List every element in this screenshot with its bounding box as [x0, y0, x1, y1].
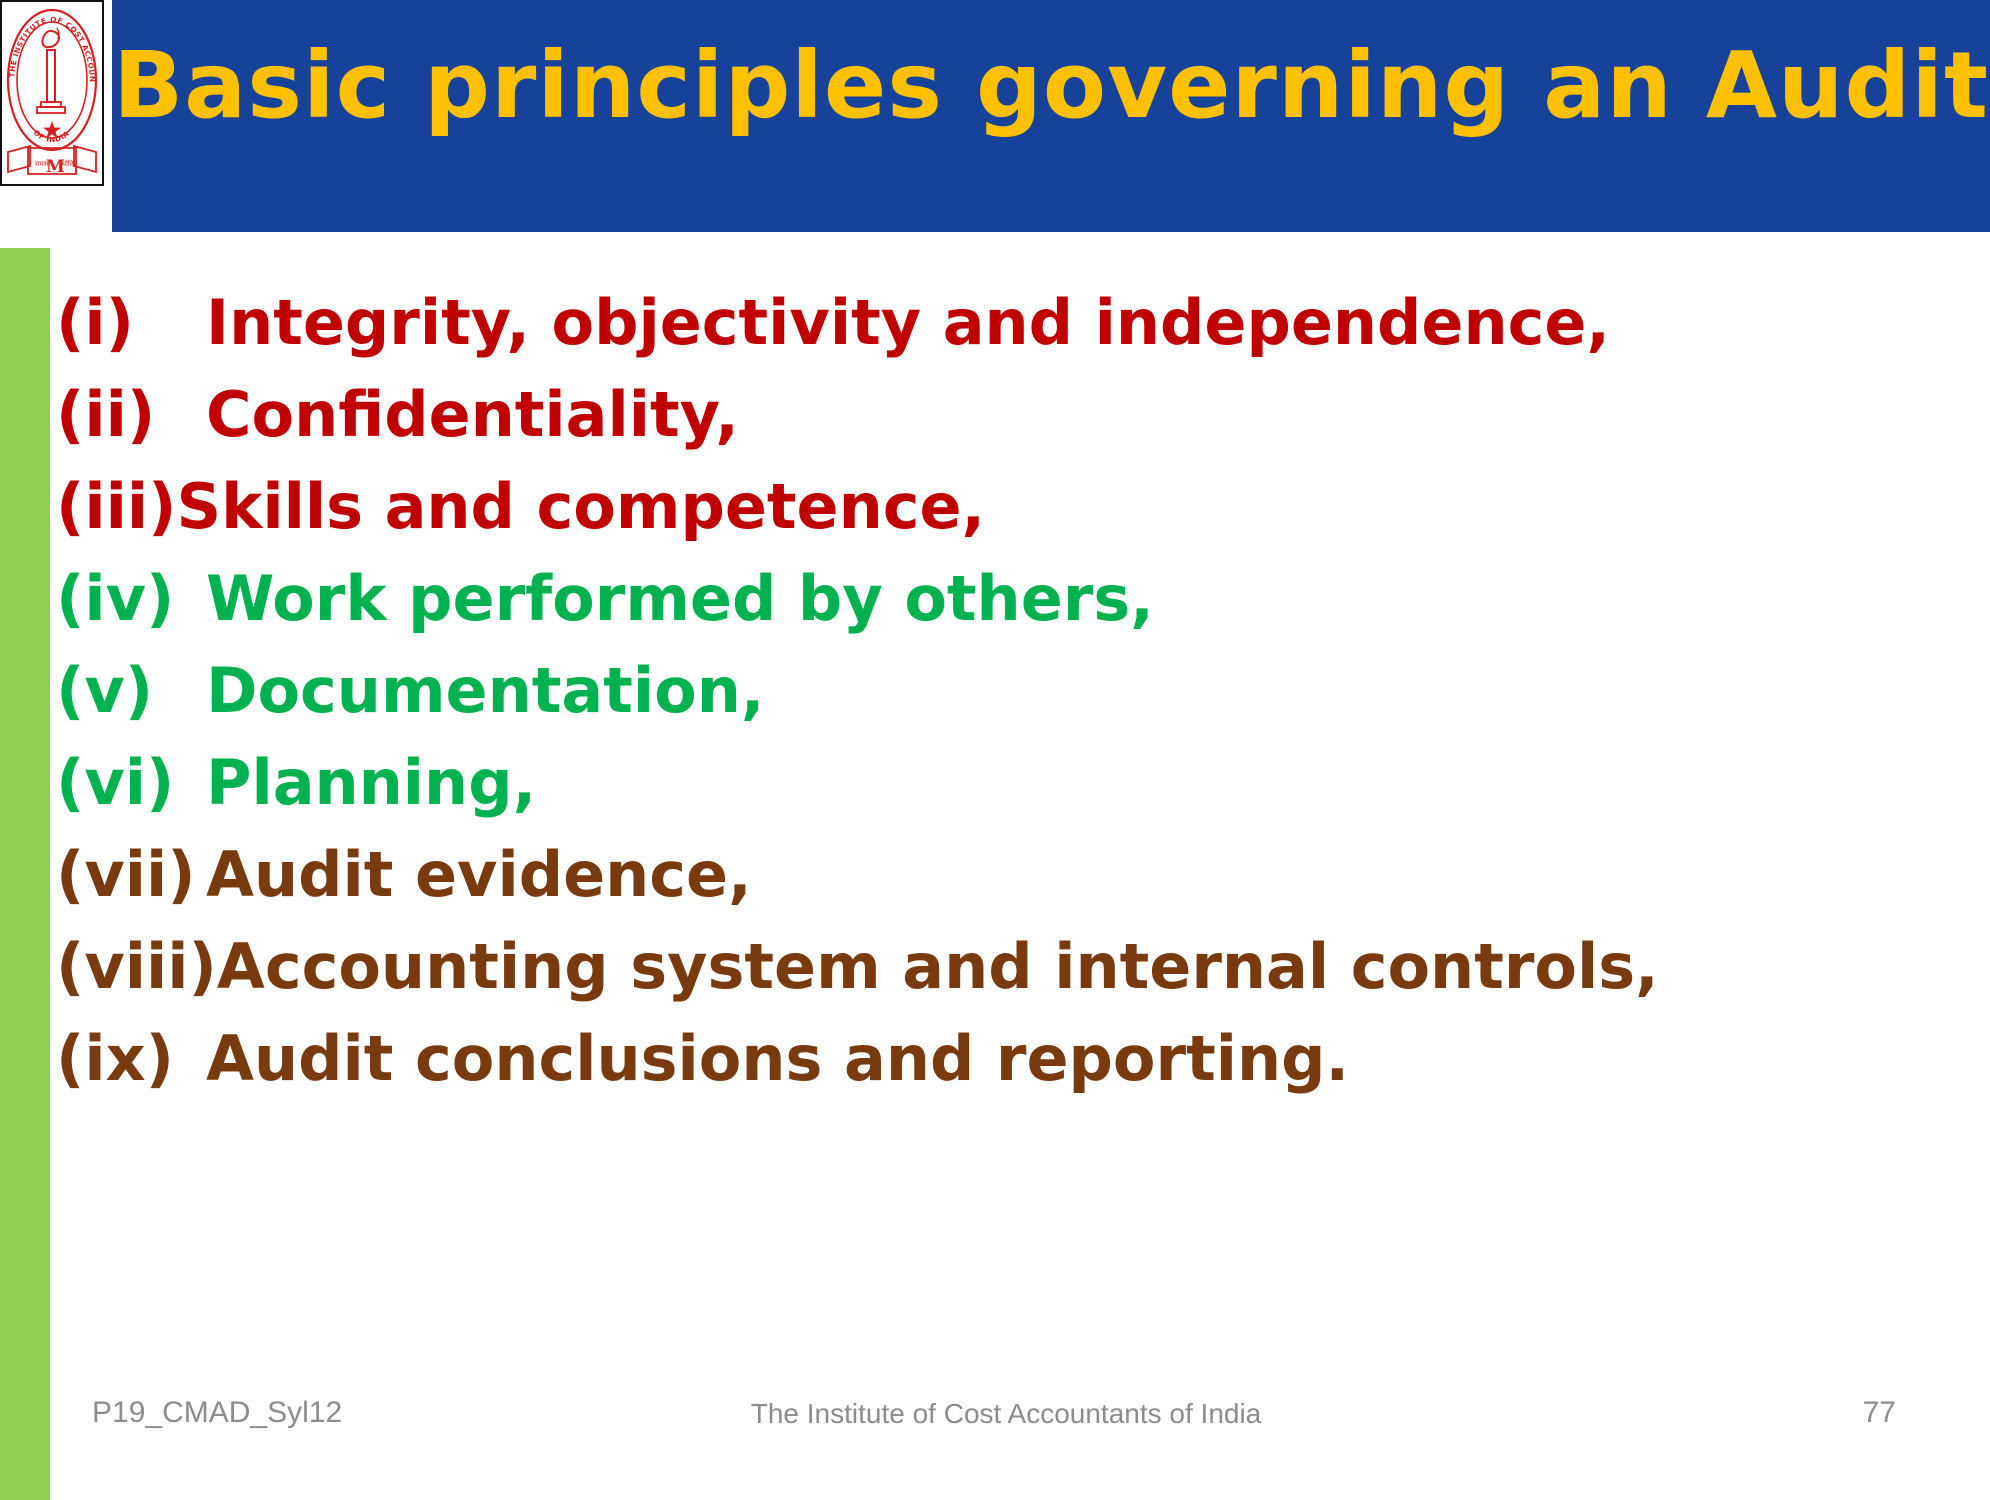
- svg-text:THE INSTITUTE OF COST ACCOUNTA: THE INSTITUTE OF COST ACCOUNTANTS: [2, 2, 97, 83]
- list-item-text: Audit conclusions and reporting.: [206, 1028, 1349, 1090]
- list-item-marker: (vi): [56, 752, 206, 814]
- list-item: (ii) Confidentiality,: [56, 384, 1956, 446]
- footer-institute-name: The Institute of Cost Accountants of Ind…: [56, 1398, 1956, 1430]
- list-item: (vii) Audit evidence,: [56, 844, 1956, 906]
- list-item: (ix) Audit conclusions and reporting.: [56, 1028, 1956, 1090]
- page-title: Basic principles governing an Audit: [112, 38, 1990, 135]
- list-item-marker: (vii): [56, 844, 206, 906]
- list-item-text: Confidentiality,: [206, 384, 739, 446]
- list-item-text: Work performed by others,: [206, 568, 1154, 630]
- institute-logo: THE INSTITUTE OF COST ACCOUNTANTS OF IND…: [0, 0, 104, 186]
- list-item: (iii) Skills and competence,: [56, 476, 1956, 538]
- list-item-marker: (v): [56, 660, 206, 722]
- list-item-text: Accounting system and internal controls,: [217, 936, 1659, 998]
- list-item: (i) Integrity, objectivity and independe…: [56, 292, 1956, 354]
- svg-text:M: M: [46, 157, 65, 177]
- list-item-text: Planning,: [206, 752, 536, 814]
- list-item: (viii) Accounting system and internal co…: [56, 936, 1956, 998]
- title-bar: Basic principles governing an Audit: [112, 0, 1990, 232]
- institute-emblem-icon: THE INSTITUTE OF COST ACCOUNTANTS OF IND…: [2, 2, 102, 184]
- slide: THE INSTITUTE OF COST ACCOUNTANTS OF IND…: [0, 0, 1990, 1500]
- principles-list: (i) Integrity, objectivity and independe…: [56, 292, 1956, 1120]
- list-item-marker: (ix): [56, 1028, 206, 1090]
- list-item-marker: (ii): [56, 384, 206, 446]
- list-item-marker: (iv): [56, 568, 206, 630]
- list-item-text: Documentation,: [206, 660, 764, 722]
- list-item: (v) Documentation,: [56, 660, 1956, 722]
- list-item-text: Skills and competence,: [176, 476, 985, 538]
- list-item-marker: (viii): [56, 936, 217, 998]
- list-item-marker: (iii): [56, 476, 176, 538]
- list-item: (iv) Work performed by others,: [56, 568, 1956, 630]
- list-item-marker: (i): [56, 292, 206, 354]
- list-item-text: Integrity, objectivity and independence,: [206, 292, 1610, 354]
- left-accent-band: [0, 248, 50, 1500]
- list-item: (vi) Planning,: [56, 752, 1956, 814]
- slide-footer: P19_CMAD_Syl12 The Institute of Cost Acc…: [56, 1396, 1956, 1436]
- footer-page-number: 77: [1863, 1396, 1896, 1430]
- list-item-text: Audit evidence,: [206, 844, 752, 906]
